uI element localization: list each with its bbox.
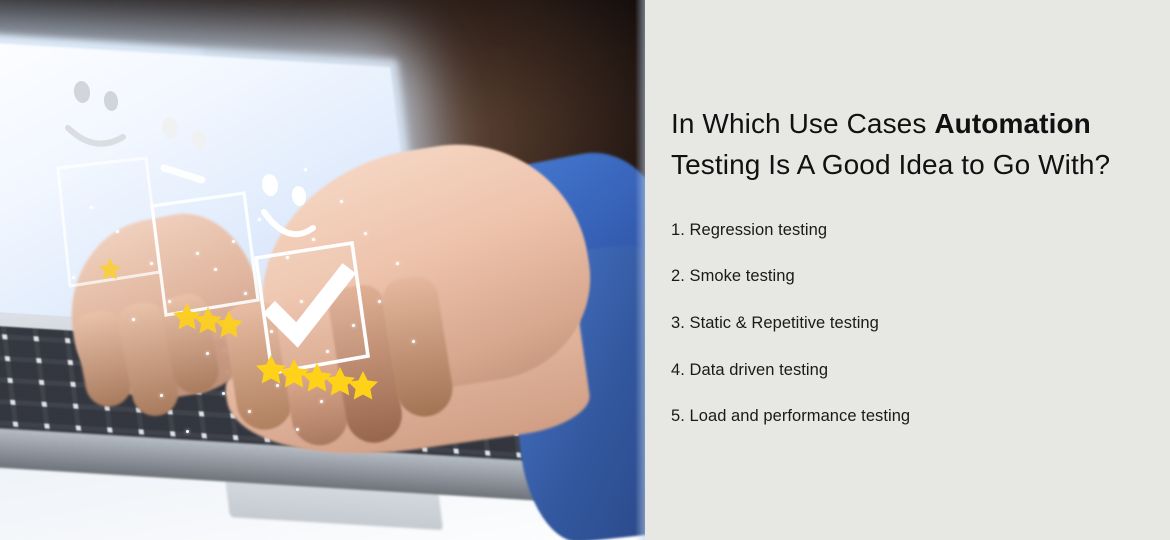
list-item: 4. Data driven testing [671, 360, 1130, 381]
star-group-three [173, 303, 243, 337]
neutral-face-icon [161, 116, 208, 180]
list-item-number: 4. [671, 361, 685, 379]
list-item-number: 1. [671, 221, 685, 239]
list-item-label: Data driven testing [690, 361, 829, 379]
star-icon [99, 258, 121, 279]
sad-face-icon [68, 80, 123, 144]
list-item-label: Static & Repetitive testing [690, 314, 879, 332]
list-item-label: Load and performance testing [690, 407, 911, 425]
list-item-number: 3. [671, 314, 685, 332]
page-title: In Which Use Cases Automation Testing Is… [671, 104, 1130, 186]
feedback-banner: In Which Use Cases Automation Testing Is… [0, 0, 1170, 540]
headline-line1-prefix: In Which Use Cases [671, 108, 934, 139]
happy-face-icon [261, 173, 313, 234]
rating-card-one-star [58, 158, 160, 286]
use-case-list: 1. Regression testing 2. Smoke testing 3… [671, 220, 1130, 427]
headline-emphasis: Automation [934, 108, 1091, 139]
list-item: 5. Load and performance testing [671, 406, 1130, 427]
list-item-number: 2. [671, 267, 685, 285]
headline-line2: Testing Is A Good Idea to Go With? [671, 149, 1110, 180]
list-item: 2. Smoke testing [671, 266, 1130, 287]
rating-card-three-star [152, 193, 258, 337]
photo-edge-fade [635, 0, 645, 540]
list-item-label: Regression testing [690, 221, 828, 239]
text-panel: In Which Use Cases Automation Testing Is… [645, 0, 1170, 540]
graphic-overlay [0, 0, 645, 540]
list-item-number: 5. [671, 407, 685, 425]
rating-card-five-star [256, 243, 378, 399]
list-item-label: Smoke testing [690, 267, 795, 285]
list-item: 1. Regression testing [671, 220, 1130, 241]
list-item: 3. Static & Repetitive testing [671, 313, 1130, 334]
photo-panel [0, 0, 645, 540]
